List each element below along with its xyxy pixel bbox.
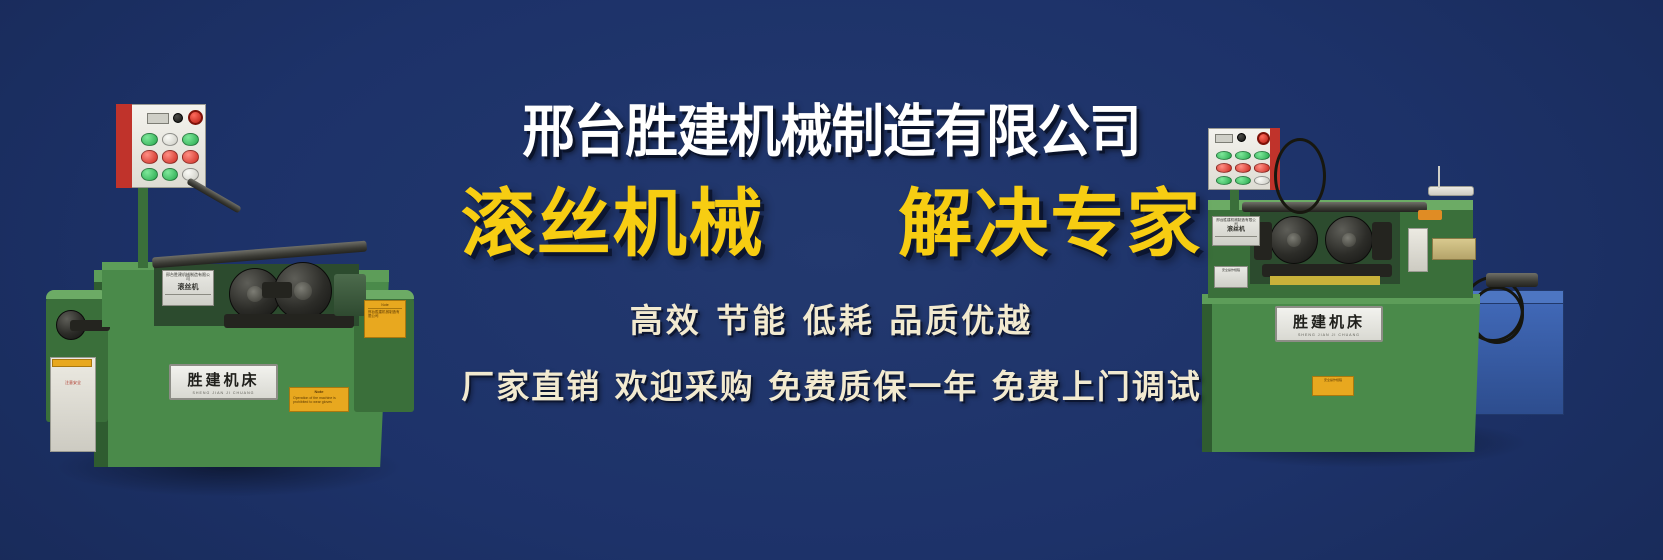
machine-right-panel-button-3[interactable]: [1254, 151, 1270, 160]
machine-left-panel-button-5[interactable]: [162, 150, 179, 163]
machine-right-panel-button-grid[interactable]: [1216, 151, 1270, 185]
machine-left-nameplate-cn: 胜建机床: [187, 369, 259, 390]
machine-right-panel-button-1[interactable]: [1216, 151, 1232, 160]
headline-left: 滚丝机械: [461, 181, 765, 267]
machine-left-head-mount: [224, 314, 354, 328]
machine-right-panel-button-9[interactable]: [1254, 176, 1270, 185]
promo-banner: 邢台胜建机械制造有限公司 滚丝机 Note 邢台胜建机械制造有限公司 胜建机床 …: [0, 0, 1663, 560]
machine-right-panel-stem: [1230, 190, 1239, 210]
machine-left: 邢台胜建机械制造有限公司 滚丝机 Note 邢台胜建机械制造有限公司 胜建机床 …: [34, 92, 424, 482]
machine-right: 邢台胜建机械制造有限公司 滚丝机 安全操作规程 胜建机床 SHENG JIAN …: [1170, 118, 1570, 458]
machine-right-panel-knob[interactable]: [1237, 133, 1246, 142]
machine-right-nameplate-en: SHENG JIAN JI CHUANG: [1298, 333, 1360, 337]
machine-left-nameplate-en: SHENG JIAN JI CHUANG: [193, 391, 255, 395]
machine-right-panel-cable: [1274, 138, 1326, 214]
machine-right-base-shadow-edge: [1202, 300, 1212, 452]
rule: [368, 308, 402, 309]
machine-right-roller-hub-2: [1342, 233, 1356, 247]
machine-right-spec-plate-rule: [1215, 236, 1257, 243]
machine-left-panel-button-7[interactable]: [141, 168, 158, 181]
machine-right-hydraulic-arm: [1486, 273, 1538, 287]
machine-right-work-table: [1270, 276, 1380, 285]
machine-right-guide-bar: [1242, 202, 1427, 212]
machine-left-panel-button-2[interactable]: [162, 133, 179, 146]
machine-left-spec-plate: 邢台胜建机械制造有限公司 滚丝机: [162, 270, 214, 306]
machine-right-panel-display: [1215, 134, 1233, 143]
machine-right-roller-hub-1: [1287, 233, 1301, 247]
machine-right-spec-plate: 邢台胜建机械制造有限公司 滚丝机: [1212, 216, 1260, 246]
machine-left-panel-button-3[interactable]: [182, 133, 199, 146]
machine-left-emergency-stop-button[interactable]: [188, 110, 203, 125]
machine-left-panel-button-6[interactable]: [182, 150, 199, 163]
headline-right: 解决专家: [898, 181, 1202, 267]
machine-right-emergency-stop-button[interactable]: [1257, 132, 1270, 145]
machine-left-roller-hub-1: [247, 286, 263, 302]
machine-left-nameplate: 胜建机床 SHENG JIAN JI CHUANG: [169, 364, 278, 400]
machine-left-crossbar: [262, 282, 292, 298]
machine-left-side-cabinet: [50, 357, 96, 452]
machine-right-die-holder-right: [1372, 222, 1392, 260]
machine-left-panel-display: [147, 113, 169, 124]
machine-right-panel-button-8[interactable]: [1235, 176, 1251, 185]
machine-right-panel-button-7[interactable]: [1216, 176, 1232, 185]
machine-left-control-panel[interactable]: [130, 104, 206, 188]
machine-left-motor: [334, 274, 366, 316]
machine-left-panel-red-edge: [116, 104, 132, 188]
machine-right-antenna: [1438, 166, 1440, 188]
machine-right-brass-plate: [1432, 238, 1476, 260]
machine-right-control-panel[interactable]: [1208, 128, 1276, 190]
machine-left-housing-left-top: [46, 290, 108, 299]
machine-left-panel-button-1[interactable]: [141, 133, 158, 146]
machine-left-column: [102, 267, 154, 327]
machine-right-panel-button-2[interactable]: [1235, 151, 1251, 160]
machine-left-roller-hub-2: [294, 282, 312, 300]
machine-right-nameplate: 胜建机床 SHENG JIAN JI CHUANG: [1275, 306, 1383, 342]
machine-right-fixture-block: [1408, 228, 1428, 272]
machine-left-cabinet-top-strip: [52, 359, 92, 367]
machine-left-panel-stem: [138, 188, 148, 268]
machine-left-panel-button-grid[interactable]: [141, 133, 199, 181]
machine-right-panel-button-4[interactable]: [1216, 163, 1232, 172]
machine-left-panel-knob[interactable]: [173, 113, 183, 123]
machine-left-panel-arm: [186, 177, 241, 213]
machine-left-panel-button-8[interactable]: [162, 168, 179, 181]
machine-left-warning-label: Note Operation of the machine is prohibi…: [289, 387, 349, 412]
machine-left-spec-sheet-yellow: Note 邢台胜建机械制造有限公司: [364, 300, 406, 338]
machine-left-panel-button-4[interactable]: [141, 150, 158, 163]
machine-left-cabinet-label: 注意安全: [56, 380, 90, 386]
machine-right-param-plate: 安全操作规程: [1214, 266, 1248, 288]
machine-right-terminal-block: [1418, 210, 1442, 220]
machine-right-top-fixture: [1428, 186, 1474, 196]
machine-right-warning-label: 安全操作规程: [1312, 376, 1354, 396]
machine-left-spec-plate-rule: [165, 294, 211, 303]
machine-right-nameplate-cn: 胜建机床: [1293, 311, 1365, 332]
machine-right-panel-button-6[interactable]: [1254, 163, 1270, 172]
machine-right-panel-button-5[interactable]: [1235, 163, 1251, 172]
